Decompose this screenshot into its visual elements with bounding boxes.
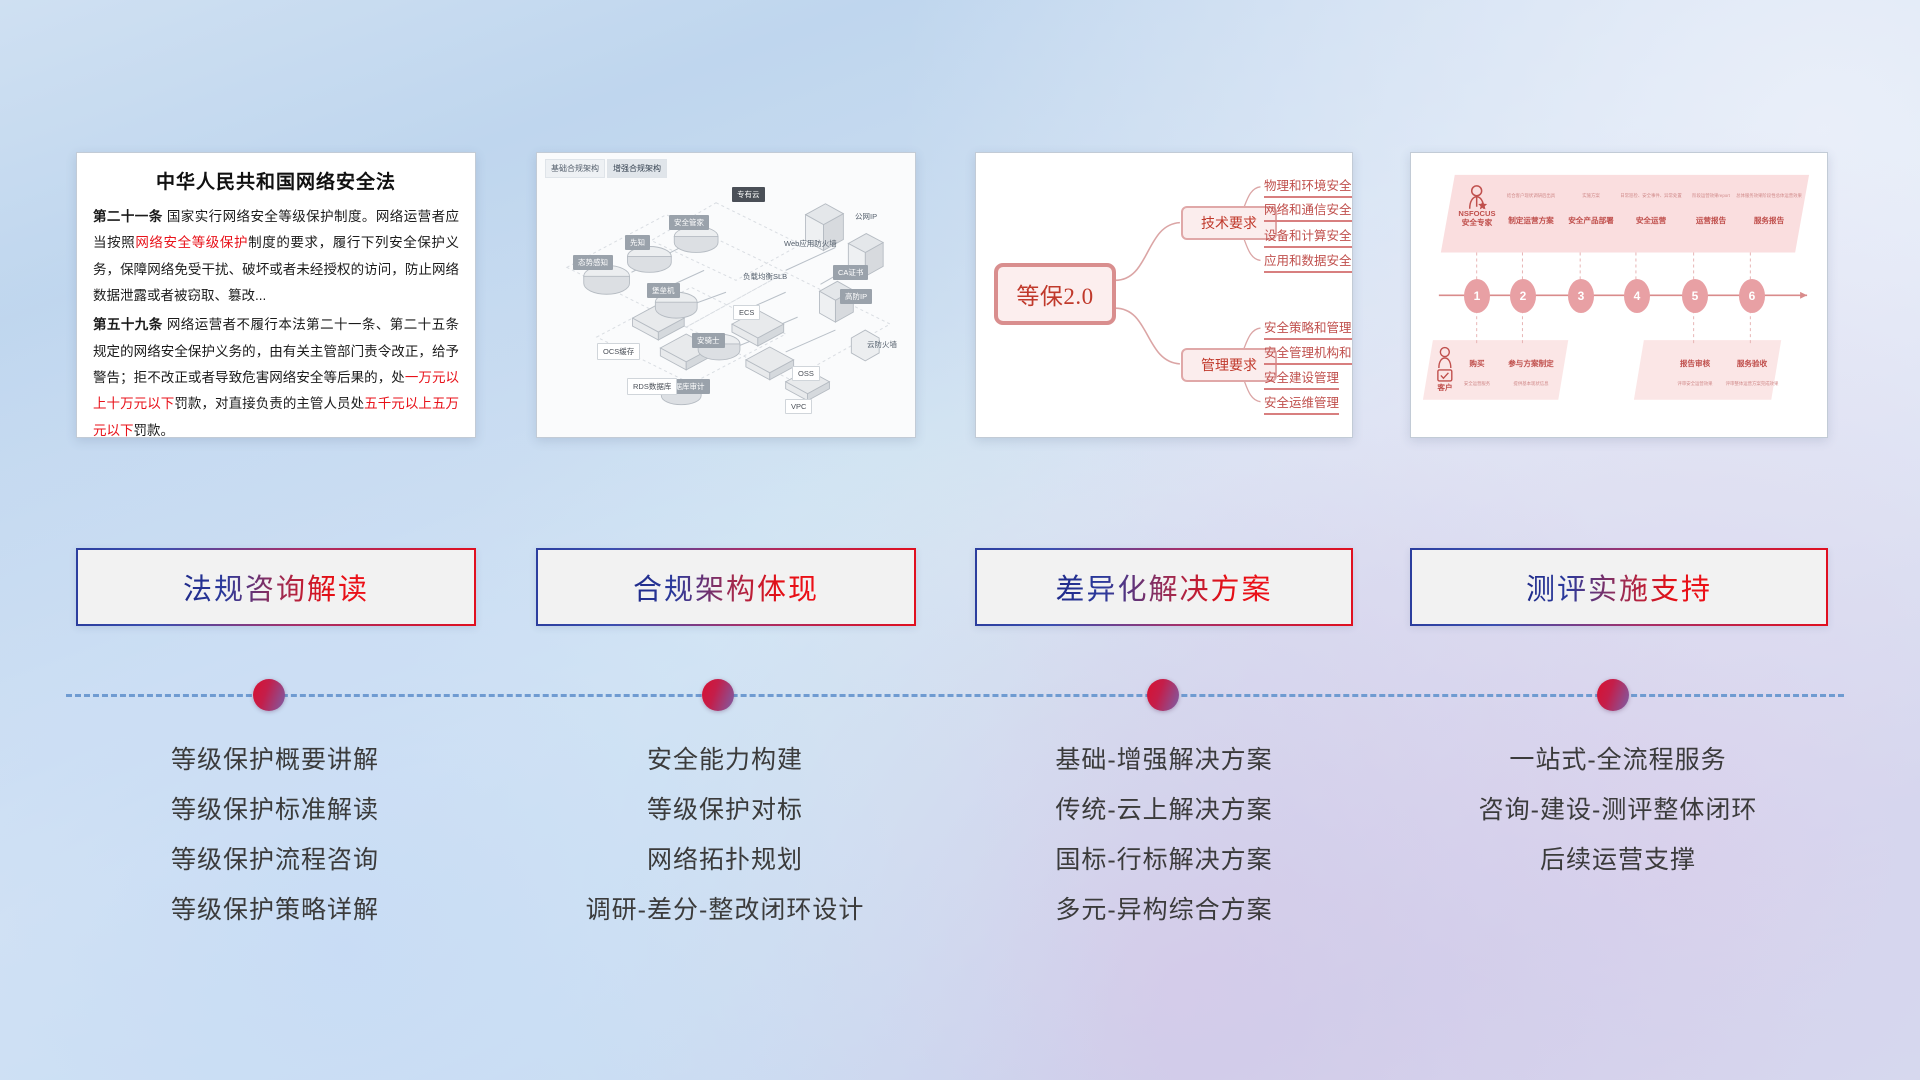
mindmap-leaf-physical-env: 物理和环境安全: [1264, 175, 1352, 198]
timeline-bottom-sub-2: 提供基本现状信息: [1513, 381, 1548, 387]
heading-label-4: 测评实施支持: [1526, 566, 1712, 608]
list-item: 传统-云上解决方案: [968, 785, 1360, 835]
list-item: 等级保护对标: [530, 785, 920, 835]
timeline-top-sub-2: 实施方案: [1582, 193, 1600, 199]
timeline-top-label-5: 服务报告: [1754, 215, 1784, 226]
timeline-dot-4[interactable]: [1597, 679, 1629, 711]
node-label-anti-ddos-ip: 高防IP: [840, 289, 872, 304]
timeline-bottom-sub-4: 评审整体运营方案完成效果: [1726, 381, 1779, 387]
card-cybersecurity-law: 中华人民共和国网络安全法 第二十一条 国家实行网络安全等级保护制度。网络运营者应…: [76, 152, 476, 438]
node-label-vpc: VPC: [785, 399, 812, 414]
timeline-bottom-label-1: 购买: [1469, 358, 1484, 369]
top-card-row: 中华人民共和国网络安全法 第二十一条 国家实行网络安全等级保护制度。网络运营者应…: [0, 0, 1920, 440]
architecture-diagram: 基础合规架构 增强合规架构: [537, 153, 915, 437]
heading-box-differentiated-solution[interactable]: 差异化解决方案: [975, 548, 1353, 626]
mindmap-leaf-policy-system: 安全策略和管理制度: [1264, 317, 1353, 340]
node-label-ecs: ECS: [733, 305, 760, 320]
node-label-rds-database: RDS数据库: [627, 378, 677, 395]
node-label-situational-awareness: 态势感知: [573, 255, 613, 270]
timeline-top-sub-5: 总体服务效果阶段性总体运营效果: [1736, 193, 1802, 199]
mindmap-leaf-org-personnel: 安全管理机构和人员: [1264, 342, 1353, 365]
heading-label-3: 差异化解决方案: [1055, 566, 1272, 608]
law-article-59: 第五十九条 网络运营者不履行本法第二十一条、第二十五条规定的网络安全保护义务的，…: [93, 312, 459, 438]
node-label-bastion-host: 堡垒机: [647, 283, 680, 298]
timeline-top-label-2: 安全产品部署: [1568, 215, 1614, 226]
node-label-public-ip: 公网IP: [855, 211, 877, 222]
timeline-top-label-3: 安全运营: [1636, 215, 1666, 226]
node-label-foresight: 先知: [625, 235, 650, 250]
heading-box-compliance-architecture[interactable]: 合规架构体现: [536, 548, 916, 626]
timeline-bottom-label-4: 服务验收: [1737, 358, 1767, 369]
timeline-dot-1[interactable]: [253, 679, 285, 711]
timeline-customer-label: 客户: [1437, 383, 1452, 392]
timeline-top-sub-3: 日常巡检、安全事件、异常处置: [1620, 193, 1681, 199]
list-item: 基础-增强解决方案: [968, 735, 1360, 785]
timeline-step-6: 6: [1739, 279, 1765, 313]
list-item: 等级保护流程咨询: [70, 835, 480, 885]
node-label-security-guard: 安骑士: [692, 333, 725, 348]
list-column-solutions: 基础-增强解决方案 传统-云上解决方案 国标-行标解决方案 多元-异构综合方案: [968, 735, 1360, 935]
node-label-ocs-cache: OCS缓存: [597, 343, 640, 360]
timeline-bottom-label-3: 报告审核: [1680, 358, 1710, 369]
law-body: 第二十一条 国家实行网络安全等级保护制度。网络运营者应当按照网络安全等级保护制度…: [77, 204, 475, 438]
list-item: 安全能力构建: [530, 735, 920, 785]
mindmap-leaf-construction-mgmt: 安全建设管理: [1264, 367, 1339, 390]
list-item: 网络拓扑规划: [530, 835, 920, 885]
list-item: 咨询-建设-测评整体闭环: [1400, 785, 1836, 835]
list-item: 一站式-全流程服务: [1400, 735, 1836, 785]
timeline-top-sub-4: 阶段运营效果report: [1692, 193, 1730, 199]
list-item: 等级保护标准解读: [70, 785, 480, 835]
list-item: 国标-行标解决方案: [968, 835, 1360, 885]
timeline-bottom-sub-1: 安全运营服务: [1464, 381, 1490, 387]
mindmap: 等保2.0 技术要求 物理和环境安全 网络和通信安全 设备和计算安全 应用和数据…: [976, 153, 1352, 437]
article-21-highlight: 网络安全等级保护: [135, 235, 248, 250]
timeline-step-4: 4: [1624, 279, 1650, 313]
heading-label-1: 法规咨询解读: [183, 566, 369, 608]
list-column-architecture: 安全能力构建 等级保护对标 网络拓扑规划 调研-差分-整改闭环设计: [530, 735, 920, 935]
article-59-label: 第五十九条: [93, 317, 163, 332]
timeline-bottom-label-2: 参与方案制定: [1508, 358, 1554, 369]
node-label-oss: OSS: [792, 366, 820, 381]
mindmap-leaf-network-comm: 网络和通信安全: [1264, 199, 1352, 222]
card-compliance-architecture: 基础合规架构 增强合规架构: [536, 152, 916, 438]
timeline-step-5: 5: [1682, 279, 1708, 313]
node-label-private-cloud: 专有云: [732, 187, 765, 202]
brand-role: 安全专家: [1458, 218, 1495, 227]
list-item: 等级保护概要讲解: [70, 735, 480, 785]
timeline-dot-2[interactable]: [702, 679, 734, 711]
list-item: 调研-差分-整改闭环设计: [530, 885, 920, 935]
timeline-dashed-line: [66, 694, 1844, 697]
law-article-21: 第二十一条 国家实行网络安全等级保护制度。网络运营者应当按照网络安全等级保护制度…: [93, 204, 459, 309]
node-label-ca-certificate: CA证书: [833, 265, 868, 280]
article-59-text-3: 罚款。: [134, 423, 175, 438]
heading-label-2: 合规架构体现: [633, 566, 819, 608]
law-title: 中华人民共和国网络安全法: [77, 153, 475, 204]
timeline-dot-3[interactable]: [1147, 679, 1179, 711]
timeline-bottom-sub-3: 评审安全运营效果: [1677, 381, 1712, 387]
heading-box-regulation-consulting[interactable]: 法规咨询解读: [76, 548, 476, 626]
node-label-security-butler: 安全管家: [669, 215, 709, 230]
service-timeline-diagram: NSFOCUS 安全专家 结合客户现状调研后出具 制定运营方案 实施方案 安全产…: [1411, 153, 1827, 437]
mindmap-node-technical: 技术要求: [1181, 206, 1277, 240]
timeline-top-sub-1: 结合客户现状调研后出具: [1507, 193, 1555, 199]
list-item: 等级保护策略详解: [70, 885, 480, 935]
mindmap-root-node: 等保2.0: [994, 263, 1116, 325]
timeline-step-2: 2: [1510, 279, 1536, 313]
list-item: 后续运营支撑: [1400, 835, 1836, 885]
card-mindmap-dengbao: 等保2.0 技术要求 物理和环境安全 网络和通信安全 设备和计算安全 应用和数据…: [975, 152, 1353, 438]
node-label-slb: 负载均衡SLB: [743, 271, 787, 282]
list-item: 多元-异构综合方案: [968, 885, 1360, 935]
list-column-regulation: 等级保护概要讲解 等级保护标准解读 等级保护流程咨询 等级保护策略详解: [70, 735, 480, 935]
list-column-assessment: 一站式-全流程服务 咨询-建设-测评整体闭环 后续运营支撑: [1400, 735, 1836, 885]
article-59-text-2: 罚款，对直接负责的主管人员处: [174, 396, 364, 411]
card-assessment-timeline: NSFOCUS 安全专家 结合客户现状调研后出具 制定运营方案 实施方案 安全产…: [1410, 152, 1828, 438]
timeline-brand: NSFOCUS 安全专家: [1458, 209, 1495, 228]
article-21-label: 第二十一条: [93, 209, 163, 224]
node-label-waf: Web应用防火墙: [784, 238, 837, 249]
mindmap-leaf-device-compute: 设备和计算安全: [1264, 225, 1352, 248]
timeline-top-label-4: 运营报告: [1696, 215, 1726, 226]
timeline-step-3: 3: [1568, 279, 1594, 313]
timeline-top-label-1: 制定运营方案: [1508, 215, 1554, 226]
heading-box-assessment-support[interactable]: 测评实施支持: [1410, 548, 1828, 626]
mindmap-leaf-app-data: 应用和数据安全: [1264, 250, 1352, 273]
timeline-step-1: 1: [1464, 279, 1490, 313]
mindmap-leaf-ops-mgmt: 安全运维管理: [1264, 392, 1339, 415]
node-label-cloud-firewall: 云防火墙: [867, 339, 897, 350]
mindmap-node-management: 管理要求: [1181, 348, 1277, 382]
